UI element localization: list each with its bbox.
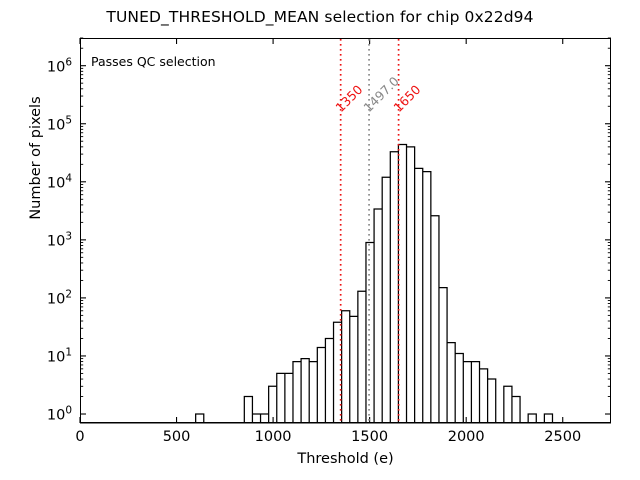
y-tick-label: 100	[47, 405, 72, 424]
x-axis-label: Threshold (e)	[80, 451, 611, 467]
y-tick-label: 104	[47, 172, 72, 191]
y-axis-label: Number of pixels	[28, 38, 44, 278]
y-tick-label: 105	[47, 114, 72, 133]
x-tick-label: 0	[75, 429, 84, 445]
x-tick-label: 2500	[544, 429, 581, 445]
y-tick-label: 103	[47, 230, 72, 249]
qc-annotation: Passes QC selection	[91, 54, 216, 69]
chart-title: TUNED_THRESHOLD_MEAN selection for chip …	[0, 8, 640, 26]
x-tick-label: 1500	[351, 429, 388, 445]
x-tick-label: 1000	[255, 429, 292, 445]
y-tick-label: 102	[47, 288, 72, 307]
x-tick-label: 2000	[448, 429, 485, 445]
y-tick-label: 106	[47, 56, 72, 75]
chart-figure: TUNED_THRESHOLD_MEAN selection for chip …	[0, 0, 640, 480]
x-tick-label: 500	[163, 429, 191, 445]
y-tick-label: 101	[47, 347, 72, 366]
